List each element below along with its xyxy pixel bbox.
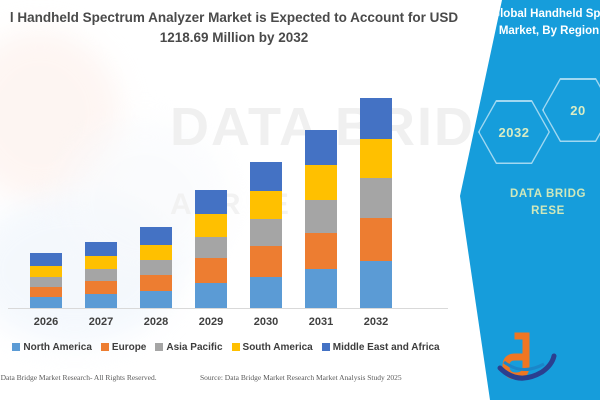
bar-segment: [195, 190, 227, 214]
legend-label: Europe: [112, 342, 146, 353]
chart-bars-area: [0, 72, 470, 309]
x-axis-label: 2028: [126, 316, 186, 328]
x-axis-label: 2031: [291, 316, 351, 328]
bar-segment: [85, 269, 117, 281]
bar-segment: [360, 218, 392, 261]
bar-column: [195, 190, 227, 308]
bar-segment: [140, 291, 172, 308]
panel-brand-line-1: DATA BRIDG: [510, 188, 586, 200]
bar-segment: [250, 219, 282, 246]
bar-segment: [305, 200, 337, 233]
legend-swatch-icon: [101, 343, 109, 351]
footer-copyright: ted ® Data Bridge Market Research- All R…: [0, 373, 157, 382]
bar-column: [140, 227, 172, 308]
bar-column: [250, 162, 282, 308]
x-axis-label: 2027: [71, 316, 131, 328]
legend-swatch-icon: [232, 343, 240, 351]
bar-segment: [360, 178, 392, 218]
hexagon-badge-front: 2032: [478, 100, 550, 164]
footer: ted ® Data Bridge Market Research- All R…: [0, 368, 600, 400]
bar-segment: [140, 260, 172, 275]
bar-segment: [85, 256, 117, 269]
legend-item[interactable]: Middle East and Africa: [322, 342, 440, 353]
bar-segment: [85, 281, 117, 295]
bar-segment: [305, 130, 337, 165]
bar-segment: [195, 283, 227, 308]
bar-segment: [250, 191, 282, 219]
infographic-canvas: DATA BRIDG A R E S l Handheld Spectrum A…: [0, 0, 600, 400]
bar-segment: [30, 297, 62, 308]
x-axis-label: 2026: [16, 316, 76, 328]
footer-source: Source: Data Bridge Market Research Mark…: [200, 373, 402, 382]
bar-column: [360, 98, 392, 308]
bar-segment: [360, 139, 392, 178]
panel-brand-line-2: RESE: [531, 205, 565, 217]
bar-segment: [30, 253, 62, 266]
bar-segment: [360, 261, 392, 308]
bar-segment: [195, 214, 227, 236]
legend-label: South America: [243, 342, 313, 353]
legend-label: Asia Pacific: [166, 342, 222, 353]
bar-segment: [250, 277, 282, 308]
legend-item[interactable]: Europe: [101, 342, 146, 353]
page-title: l Handheld Spectrum Analyzer Market is E…: [0, 8, 474, 48]
bar-segment: [30, 277, 62, 287]
legend-swatch-icon: [322, 343, 330, 351]
x-axis-label: 2030: [236, 316, 296, 328]
bar-segment: [140, 275, 172, 292]
legend-item[interactable]: North America: [12, 342, 92, 353]
hexagon-back-label: 20: [544, 80, 600, 141]
legend-item[interactable]: Asia Pacific: [155, 342, 222, 353]
bar-segment: [85, 242, 117, 257]
bar-segment: [250, 162, 282, 191]
x-axis-label: 2032: [346, 316, 406, 328]
bar-segment: [140, 227, 172, 245]
bar-segment: [30, 266, 62, 277]
hexagon-badge-back: 20: [542, 78, 600, 142]
bar-segment: [195, 237, 227, 258]
region-stacked-bar-chart: [0, 72, 470, 312]
bar-column: [305, 130, 337, 308]
bar-segment: [360, 98, 392, 139]
chart-x-axis-labels: 2026202720282029203020312032: [0, 316, 470, 332]
legend-swatch-icon: [155, 343, 163, 351]
chart-legend: North AmericaEuropeAsia PacificSouth Ame…: [0, 338, 466, 356]
bar-segment: [250, 246, 282, 276]
bar-segment: [30, 287, 62, 298]
panel-brand-text: DATA BRIDG RESE: [468, 186, 600, 220]
bar-segment: [305, 269, 337, 308]
bar-segment: [195, 258, 227, 282]
bar-column: [85, 242, 117, 308]
region-panel: Global Handheld Spe Market, By Region 20…: [460, 0, 600, 400]
legend-label: North America: [23, 342, 92, 353]
legend-item[interactable]: South America: [232, 342, 313, 353]
x-axis-label: 2029: [181, 316, 241, 328]
legend-swatch-icon: [12, 343, 20, 351]
bar-column: [30, 253, 62, 308]
bar-segment: [140, 245, 172, 261]
hexagon-front-label: 2032: [480, 102, 549, 163]
bar-segment: [305, 233, 337, 269]
bar-segment: [85, 294, 117, 308]
bar-segment: [305, 165, 337, 199]
legend-label: Middle East and Africa: [333, 342, 440, 353]
